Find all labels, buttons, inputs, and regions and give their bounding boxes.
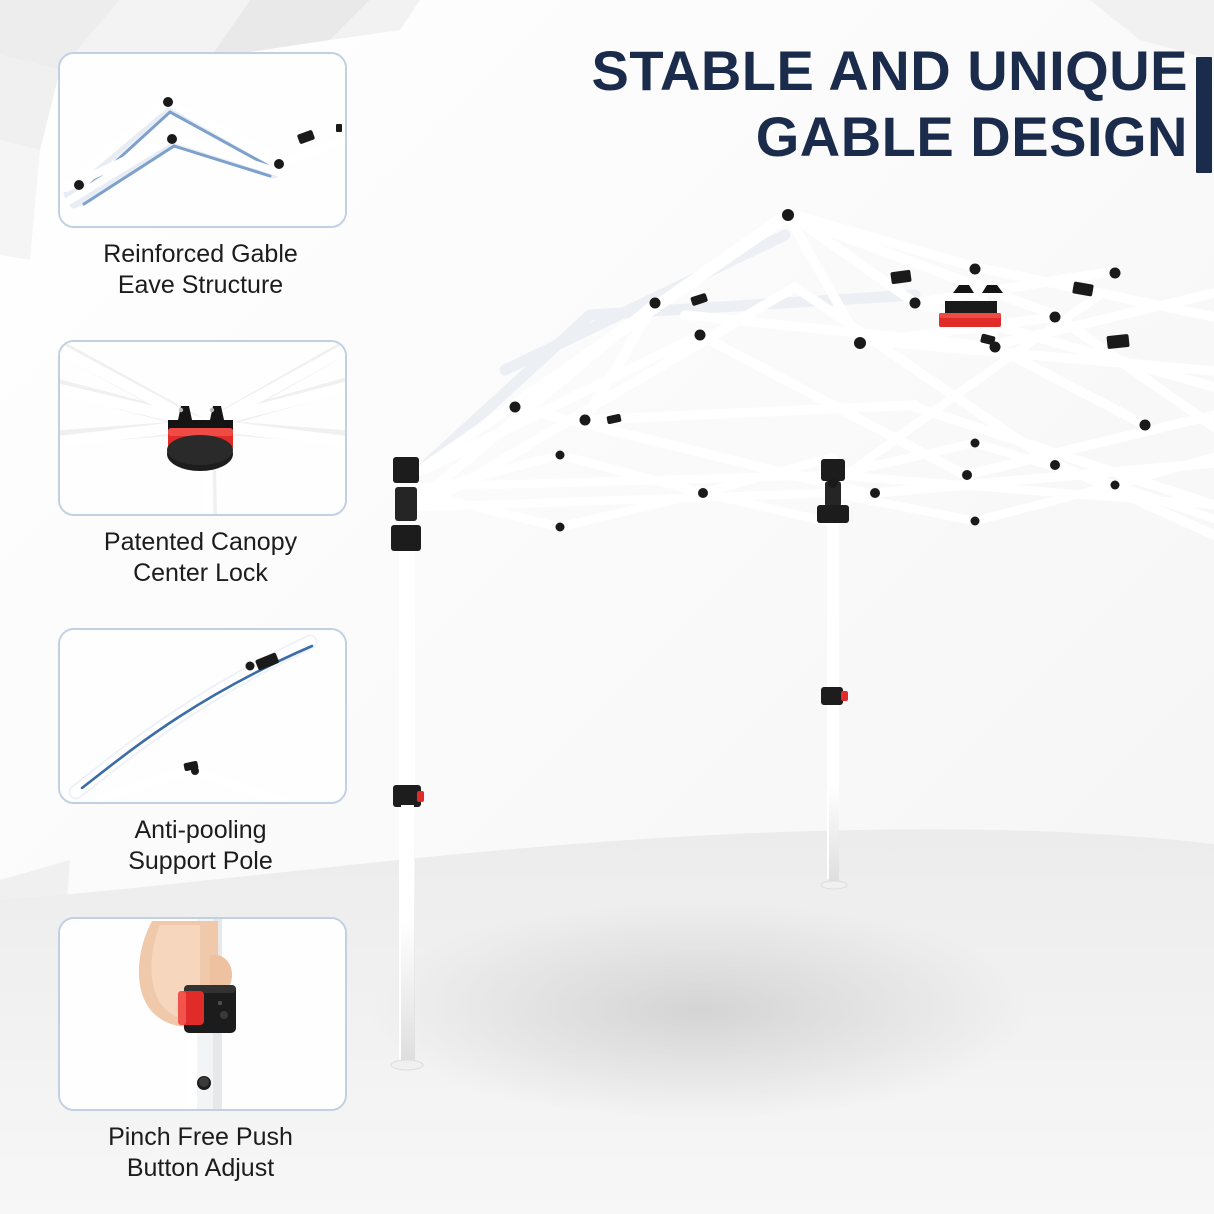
canopy-frame-illustration bbox=[355, 175, 1214, 1175]
rear-leg-lower-tube bbox=[829, 705, 839, 883]
caption-line-2: Support Pole bbox=[58, 846, 343, 877]
canopy-center-lock-hub bbox=[939, 285, 1003, 327]
front-left-leg bbox=[391, 457, 424, 1070]
rear-leg-foot-plate bbox=[821, 881, 847, 889]
title-line-2: GABLE DESIGN bbox=[560, 104, 1188, 170]
leg-foot-plate bbox=[391, 1060, 423, 1070]
caption-line-1: Reinforced Gable bbox=[58, 239, 343, 270]
feature-caption: Patented Canopy Center Lock bbox=[58, 527, 343, 588]
leg-slider-block-icon bbox=[395, 487, 417, 521]
gable-eave-illustration bbox=[60, 54, 345, 226]
push-button-illustration bbox=[60, 919, 345, 1109]
rear-leg-push-button-housing bbox=[821, 687, 843, 705]
feature-card-pinch-free-push-button-adjust: Pinch Free Push Button Adjust bbox=[58, 917, 343, 1183]
rear-leg-top-bracket-icon bbox=[821, 459, 845, 481]
caption-line-1: Anti-pooling bbox=[58, 815, 343, 846]
feature-image-center-lock bbox=[58, 340, 347, 516]
center-lock-illustration bbox=[60, 342, 345, 514]
infographic-canvas: STABLE AND UNIQUE GABLE DESIGN bbox=[0, 0, 1214, 1214]
feature-caption: Pinch Free Push Button Adjust bbox=[58, 1122, 343, 1183]
title-line-1: STABLE AND UNIQUE bbox=[560, 38, 1188, 104]
caption-line-2: Button Adjust bbox=[58, 1153, 343, 1184]
feature-caption: Anti-pooling Support Pole bbox=[58, 815, 343, 876]
hero-canopy-frame-image bbox=[355, 175, 1214, 1175]
rear-leg-push-button-red-icon bbox=[841, 691, 848, 701]
title-accent-bar bbox=[1196, 57, 1212, 173]
feature-image-support-pole bbox=[58, 628, 347, 804]
feature-caption: Reinforced Gable Eave Structure bbox=[58, 239, 343, 300]
page-title: STABLE AND UNIQUE GABLE DESIGN bbox=[560, 38, 1188, 170]
support-pole-illustration bbox=[60, 630, 345, 802]
leg-top-bracket-icon bbox=[393, 457, 419, 483]
feature-image-gable-eave bbox=[58, 52, 347, 228]
leg-lower-bracket-icon bbox=[391, 525, 421, 551]
feature-card-patented-canopy-center-lock: Patented Canopy Center Lock bbox=[58, 340, 343, 588]
feature-card-reinforced-gable-eave-structure: Reinforced Gable Eave Structure bbox=[58, 52, 343, 300]
feature-image-push-button bbox=[58, 917, 347, 1111]
leg-push-button-red-icon bbox=[417, 791, 424, 802]
caption-line-2: Eave Structure bbox=[58, 270, 343, 301]
caption-line-2: Center Lock bbox=[58, 558, 343, 589]
caption-line-1: Patented Canopy bbox=[58, 527, 343, 558]
leg-push-button-housing bbox=[393, 785, 421, 807]
feature-card-anti-pooling-support-pole: Anti-pooling Support Pole bbox=[58, 628, 343, 876]
leg-lower-tube bbox=[401, 805, 414, 1063]
rear-leg-lower-bracket-icon bbox=[817, 505, 849, 523]
caption-line-1: Pinch Free Push bbox=[58, 1122, 343, 1153]
